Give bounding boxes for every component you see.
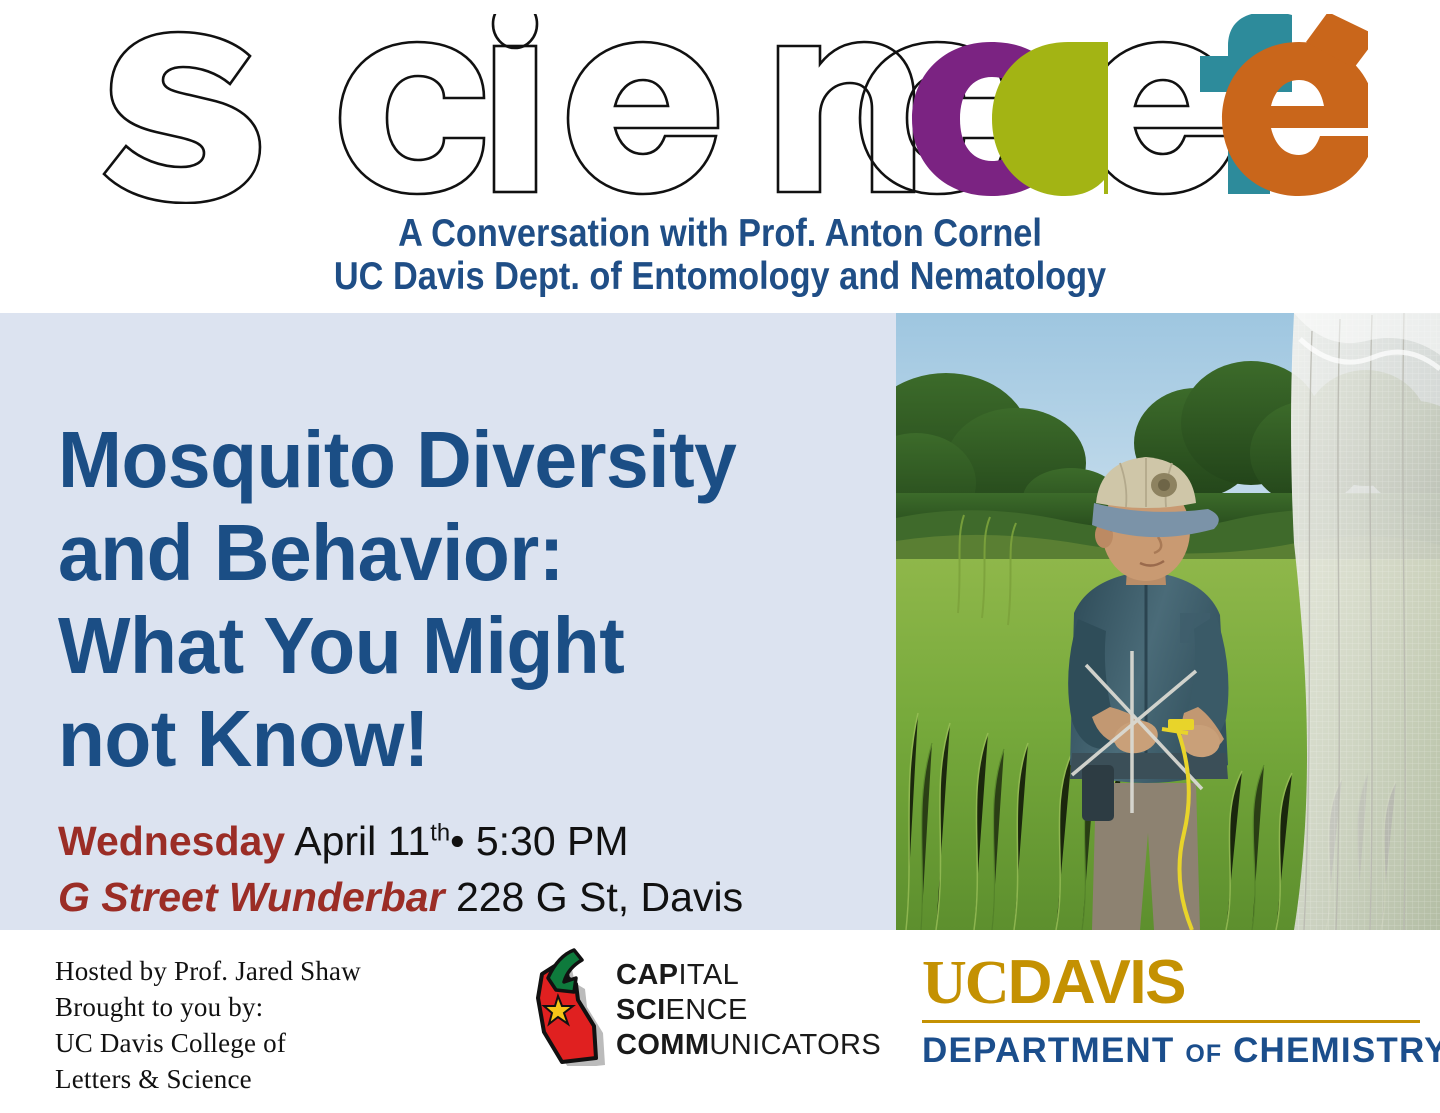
event-day: Wednesday <box>58 818 285 864</box>
california-chili-icon <box>524 948 620 1066</box>
ucdavis-department-line: DEPARTMENT OF CHEMISTRY <box>922 1032 1422 1073</box>
csc-rest-ital: ITAL <box>678 959 739 991</box>
talk-title: Mosquito Diversity and Behavior: What Yo… <box>58 413 855 785</box>
event-date-suffix: th <box>430 819 450 846</box>
ucdavis-chemistry-logo: UCDAVIS DEPARTMENT OF CHEMISTRY <box>922 952 1422 1062</box>
ucdavis-uc: UC <box>922 949 1008 1017</box>
event-separator: • <box>450 818 464 864</box>
csc-line-communicators: COMMUNICATORS <box>616 1028 881 1063</box>
event-datetime-line: Wednesday April 11th• 5:30 PM <box>58 813 888 869</box>
subtitle-line-2: UC Davis Dept. of Entomology and Nematol… <box>86 255 1353 298</box>
csc-rest-ence: ENCE <box>666 994 748 1026</box>
csc-line-science: SCIENCE <box>616 993 881 1028</box>
event-details: Wednesday April 11th• 5:30 PM G Street W… <box>58 813 888 925</box>
poster-header: A Conversation with Prof. Anton Cornel U… <box>0 0 1440 313</box>
mosquito-net <box>1291 313 1440 930</box>
event-address: 228 G St, Davis <box>456 874 743 920</box>
title-line-4: not Know! <box>58 692 855 785</box>
csc-wordmark: CAPITAL SCIENCE COMMUNICATORS <box>616 958 881 1063</box>
poster-footer: Hosted by Prof. Jared Shaw Brought to yo… <box>0 930 1440 1113</box>
hosted-line-2: Brought to you by: <box>55 989 361 1025</box>
ucdavis-davis: DAVIS <box>1008 948 1185 1017</box>
of-word: OF <box>1185 1040 1222 1068</box>
title-line-2: and Behavior: <box>58 506 855 599</box>
csc-bold-sci: SCI <box>616 994 666 1026</box>
hosted-line-4: Letters & Science <box>55 1061 361 1097</box>
event-venue: G Street Wunderbar <box>58 874 445 920</box>
event-time: 5:30 PM <box>476 818 629 864</box>
hosted-line-1: Hosted by Prof. Jared Shaw <box>55 953 361 989</box>
subtitle-line-1: A Conversation with Prof. Anton Cornel <box>86 212 1353 255</box>
csc-rest-unicators: UNICATORS <box>709 1029 881 1061</box>
event-venue-line: G Street Wunderbar 228 G St, Davis <box>58 869 888 925</box>
title-line-1: Mosquito Diversity <box>58 413 855 506</box>
subject-word: CHEMISTRY <box>1233 1031 1440 1070</box>
capital-science-communicators-logo: CAPITAL SCIENCE COMMUNICATORS <box>524 948 900 1066</box>
event-date: April 11 <box>294 818 430 864</box>
csc-bold-comm: COMM <box>616 1029 709 1061</box>
science-cafe-logo <box>78 14 1368 204</box>
csc-bold-cap: CAP <box>616 959 678 991</box>
hosted-credits: Hosted by Prof. Jared Shaw Brought to yo… <box>55 953 361 1097</box>
csc-line-capital: CAPITAL <box>616 958 881 993</box>
poster-root: A Conversation with Prof. Anton Cornel U… <box>0 0 1440 1113</box>
title-line-3: What You Might <box>58 599 855 692</box>
ucdavis-divider-rule <box>922 1020 1420 1023</box>
ucdavis-wordmark: UCDAVIS <box>922 952 1422 1014</box>
department-word: DEPARTMENT <box>922 1031 1174 1070</box>
hosted-line-3: UC Davis College of <box>55 1025 361 1061</box>
speaker-field-photo <box>896 313 1440 930</box>
event-subtitle: A Conversation with Prof. Anton Cornel U… <box>86 212 1353 298</box>
logo-letter-e <box>1222 42 1368 196</box>
